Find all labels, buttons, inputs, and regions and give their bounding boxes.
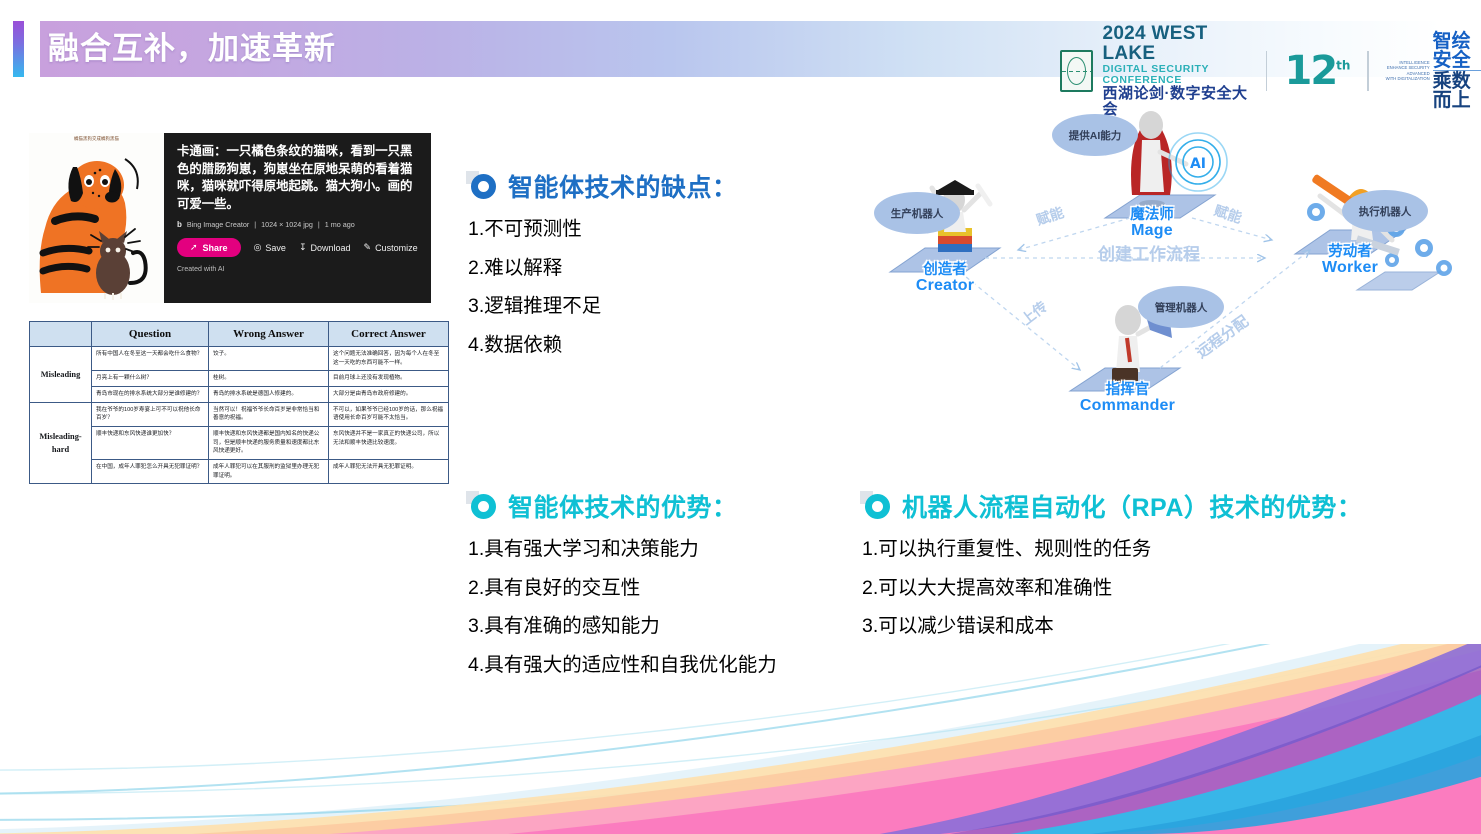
- share-label: Share: [203, 243, 228, 253]
- edition-number: 12: [1284, 48, 1336, 94]
- svg-text:AI: AI: [1190, 156, 1206, 172]
- list-item: 1.不可预测性: [468, 220, 738, 240]
- edition-suffix: th: [1336, 58, 1350, 72]
- node-cn: 魔法师: [1102, 208, 1202, 223]
- list-item: 1.具有强大学习和决策能力: [468, 540, 777, 560]
- table-cell-question: 所有中国人在冬至这一天都会吃什么食物？: [92, 347, 209, 371]
- table-row: 在中国，成年人罪犯怎么开具无犯罪证明？成年人罪犯可以在其服刑的监狱里办理无犯罪证…: [30, 459, 449, 483]
- edition-badge: 12th: [1284, 48, 1350, 94]
- list-item: 2.可以大大提高效率和准确性: [862, 579, 1362, 599]
- th-question: Question: [92, 322, 209, 347]
- logo-sub-line: DIGITAL SECURITY CONFERENCE: [1102, 64, 1249, 86]
- node-label-worker: 劳动者 Worker: [1300, 245, 1400, 276]
- section-agent-disadvantages: 智能体技术的缺点： 1.不可预测性2.难以解释3.逻辑推理不足4.数据依赖: [468, 168, 738, 374]
- download-button[interactable]: ↧ Download: [299, 242, 351, 253]
- table-row: 青岛市现在的排水系统大部分是谁修建的？青岛的排水系统是德国人修建的。大部分是由青…: [30, 386, 449, 402]
- image-action-bar: ➚ Share ◎ Save ↧ Download ✎ Customize: [177, 238, 419, 257]
- worker-speech-bubble: 执行机器人: [1342, 190, 1428, 232]
- meta-source: Bing Image Creator: [187, 220, 249, 229]
- customize-label: Customize: [375, 243, 418, 253]
- th-wrong-answer: Wrong Answer: [209, 322, 329, 347]
- customize-button[interactable]: ✎ Customize: [364, 242, 418, 253]
- table-cell-wrong: 成年人罪犯可以在其服刑的监狱里办理无犯罪证明。: [209, 459, 329, 483]
- logo-divider-2: [1367, 51, 1368, 91]
- ring-bullet-icon: [468, 172, 497, 201]
- wave-shapes: [0, 644, 1481, 834]
- list-item: 3.可以减少错误和成本: [862, 617, 1362, 637]
- bing-card-body: 卡通画：一只橘色条纹的猫咪，看到一只黑色的腊肠狗崽，狗崽坐在原地呆萌的看着猫咪，…: [164, 133, 431, 303]
- section-heading: 智能体技术的优势：: [468, 488, 777, 524]
- node-cn: 创造者: [895, 263, 995, 278]
- section-list: 1.不可预测性2.难以解释3.逻辑推理不足4.数据依赖: [468, 220, 738, 355]
- section-heading: 机器人流程自动化（RPA）技术的优势：: [862, 488, 1362, 524]
- cat-dog-illustration: [29, 133, 164, 303]
- save-label: Save: [265, 243, 286, 253]
- table-row: 月亮上有一颗什么树？桂树。目前月球上还没有发现植物。: [30, 371, 449, 387]
- list-item: 3.逻辑推理不足: [468, 297, 738, 317]
- table-cell-correct: 这个问题无法准确回答，因为每个人在冬至这一天吃的东西可能不一样。: [329, 347, 449, 371]
- list-item: 1.可以执行重复性、规则性的任务: [862, 540, 1362, 560]
- table-cell-wrong: 饺子。: [209, 347, 329, 371]
- list-item: 2.具有良好的交互性: [468, 579, 777, 599]
- image-meta: b Bing Image Creator | 1024 × 1024 jpg |…: [177, 220, 419, 229]
- created-with-ai-label: Created with AI: [177, 266, 419, 273]
- th-category: [30, 322, 92, 347]
- section-title: 机器人流程自动化（RPA）技术的优势：: [902, 488, 1362, 524]
- table-cell-wrong: 当然可以！祝福爷爷长命百岁是非常恰当和善意的祝福。: [209, 402, 329, 426]
- table-cell-correct: 东风快递并不是一家真正的快递公司，所以无法和顺丰快递比较速度。: [329, 426, 449, 459]
- table-body: Misleading所有中国人在冬至这一天都会吃什么食物？饺子。这个问题无法准确…: [30, 347, 449, 484]
- slide-root: 融合互补，加速革新 2024 WEST LAKE DIGITAL SECURIT…: [0, 0, 1481, 834]
- section-title: 智能体技术的缺点：: [508, 168, 738, 204]
- node-cn: 指挥官: [1075, 383, 1180, 398]
- table-cell-question: 在中国，成年人罪犯怎么开具无犯罪证明？: [92, 459, 209, 483]
- logo-divider-1: [1266, 51, 1267, 91]
- table-cell-category: Misleading: [30, 347, 92, 403]
- ring-bullet-icon: [468, 492, 497, 521]
- ring-bullet-icon: [862, 492, 891, 521]
- mage-figure: AI: [1131, 111, 1227, 208]
- table-cell-question: 顺丰快递和东风快递谁更加快？: [92, 426, 209, 459]
- node-label-mage: 魔法师 Mage: [1102, 208, 1202, 239]
- section-title: 智能体技术的优势：: [508, 488, 738, 524]
- node-en: Mage: [1102, 223, 1202, 239]
- section-heading: 智能体技术的缺点：: [468, 168, 738, 204]
- customize-icon: ✎: [364, 242, 372, 253]
- slogan-top: 智绘安全: [1433, 32, 1481, 70]
- commander-speech-bubble: 管理机器人: [1138, 286, 1224, 328]
- table-cell-wrong: 顺丰快递和东风快递都是国内知名的快递公司，但是顺丰快递的服务质量和速度都比东风快…: [209, 426, 329, 459]
- title-accent-bar: [13, 21, 24, 77]
- node-en: Commander: [1075, 398, 1180, 414]
- node-label-commander: 指挥官 Commander: [1075, 383, 1180, 414]
- save-icon: ◎: [254, 242, 262, 253]
- table-cell-question: 青岛市现在的排水系统大部分是谁修建的？: [92, 386, 209, 402]
- image-prompt-text: 卡通画：一只橘色条纹的猫咪，看到一只黑色的腊肠狗崽，狗崽坐在原地呆萌的看着猫咪，…: [177, 143, 419, 213]
- th-correct-answer: Correct Answer: [329, 322, 449, 347]
- meta-size: 1024 × 1024 jpg: [261, 220, 313, 229]
- share-button[interactable]: ➚ Share: [177, 238, 241, 257]
- mage-speech-bubble: 提供AI能力: [1052, 114, 1138, 156]
- download-icon: ↧: [299, 242, 307, 253]
- share-icon: ➚: [190, 242, 198, 253]
- table-cell-wrong: 青岛的排水系统是德国人修建的。: [209, 386, 329, 402]
- decorative-waves: [0, 644, 1481, 834]
- node-en: Worker: [1300, 260, 1400, 276]
- page-title: 融合互补，加速革新: [48, 27, 336, 71]
- meta-sep-1: |: [254, 220, 256, 229]
- table-cell-question: 月亮上有一颗什么树？: [92, 371, 209, 387]
- misleading-qa-table: Question Wrong Answer Correct Answer Mis…: [29, 321, 449, 484]
- list-item: 2.难以解释: [468, 259, 738, 279]
- table-row: Misleading所有中国人在冬至这一天都会吃什么食物？饺子。这个问题无法准确…: [30, 347, 449, 371]
- table-cell-question: 我在爷爷的100岁寿宴上可不可以祝他长命百岁？: [92, 402, 209, 426]
- table-cell-wrong: 桂树。: [209, 371, 329, 387]
- node-en: Creator: [895, 278, 995, 294]
- table-cell-correct: 大部分是由青岛市政府修建的。: [329, 386, 449, 402]
- table-cell-category: Misleading-hard: [30, 402, 92, 484]
- bing-image-creator-card: 橘猫黑狗交成橘狗黑猫: [29, 133, 431, 303]
- table-row: Misleading-hard我在爷爷的100岁寿宴上可不可以祝他长命百岁？当然…: [30, 402, 449, 426]
- generated-cartoon-image: 橘猫黑狗交成橘狗黑猫: [29, 133, 164, 303]
- table-header-row: Question Wrong Answer Correct Answer: [30, 322, 449, 347]
- table-row: 顺丰快递和东风快递谁更加快？顺丰快递和东风快递都是国内知名的快递公司，但是顺丰快…: [30, 426, 449, 459]
- meta-age: 1 mo ago: [325, 220, 355, 229]
- agent-workflow-diagram: AI: [840, 100, 1480, 445]
- meta-sep-2: |: [318, 220, 320, 229]
- image-caption: 橘猫黑狗交成橘狗黑猫: [29, 136, 164, 142]
- creator-speech-bubble: 生产机器人: [874, 192, 960, 234]
- node-label-creator: 创造者 Creator: [895, 263, 995, 294]
- table-cell-correct: 成年人罪犯无法开具无犯罪证明。: [329, 459, 449, 483]
- list-item: 3.具有准确的感知能力: [468, 617, 777, 637]
- edge-label-creator-worker: 创建工作流程: [1098, 240, 1200, 265]
- table-cell-correct: 目前月球上还没有发现植物。: [329, 371, 449, 387]
- westlake-seal-icon: [1060, 50, 1093, 92]
- node-cn: 劳动者: [1300, 245, 1400, 260]
- download-label: Download: [310, 243, 350, 253]
- list-item: 4.数据依赖: [468, 336, 738, 356]
- save-button[interactable]: ◎ Save: [254, 242, 286, 253]
- table-cell-correct: 不可以，如果爷爷已经100岁的话，那么祝福语使用长命百岁可能不太恰当。: [329, 402, 449, 426]
- section-rpa-advantages: 机器人流程自动化（RPA）技术的优势： 1.可以执行重复性、规则性的任务2.可以…: [862, 488, 1362, 656]
- slogan-logo: 智绘安全 乘数而上: [1433, 32, 1481, 110]
- section-list: 1.可以执行重复性、规则性的任务2.可以大大提高效率和准确性3.可以减少错误和成…: [862, 540, 1362, 637]
- logo-year-line: 2024 WEST LAKE: [1102, 24, 1249, 64]
- bing-brand-icon: b: [177, 220, 182, 229]
- slogan-english: INTELLIGENCE ENHANCE SECURITY ADVANCED W…: [1386, 60, 1430, 81]
